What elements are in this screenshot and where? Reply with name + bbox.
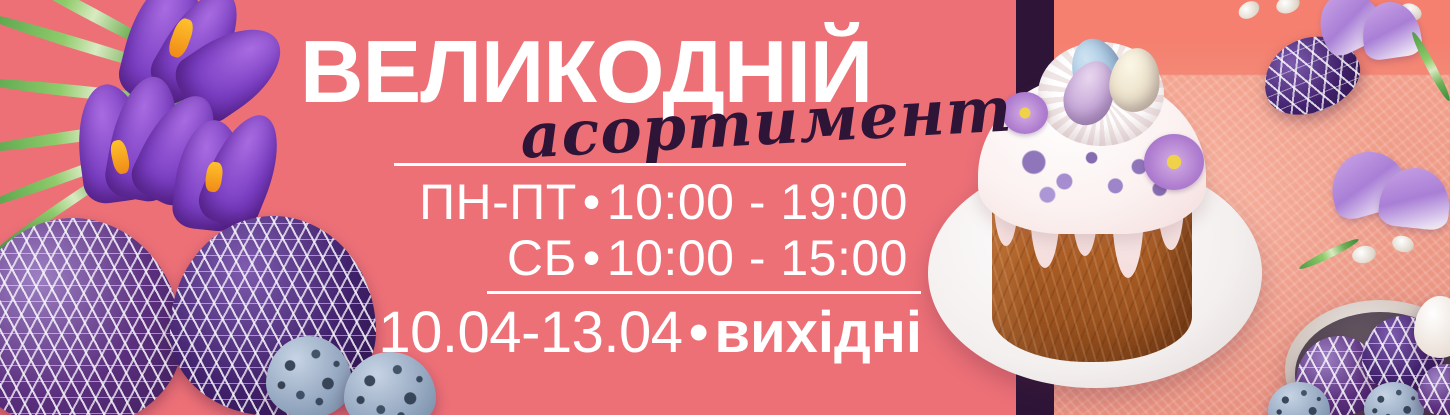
divider-rule-top: [394, 163, 906, 166]
schedule-time: 10:00 - 19:00: [607, 174, 908, 230]
schedule-time: 10:00 - 15:00: [607, 230, 908, 286]
bullet-separator: •: [577, 230, 607, 286]
divider-rule-bottom: [487, 291, 921, 294]
date-range: 10.04-13.04: [378, 300, 682, 365]
bullet-separator: •: [683, 300, 715, 365]
dates-label: вихідні: [714, 300, 922, 365]
easter-promo-banner: ВЕЛИКОДНІЙ асортимент ПН-ПТ•10:00 - 19:0…: [0, 0, 1450, 415]
schedule-row-weekdays: ПН-ПТ•10:00 - 19:00: [0, 174, 908, 230]
schedule-days: ПН-ПТ: [419, 174, 577, 230]
schedule-days: СБ: [507, 230, 577, 286]
dates-row: 10.04-13.04•вихідні: [0, 300, 922, 366]
bullet-separator: •: [577, 174, 607, 230]
cake-flower-right: [1144, 134, 1204, 190]
text-content-block: ВЕЛИКОДНІЙ асортимент ПН-ПТ•10:00 - 19:0…: [0, 0, 1017, 415]
schedule-row-saturday: СБ•10:00 - 15:00: [0, 230, 908, 286]
